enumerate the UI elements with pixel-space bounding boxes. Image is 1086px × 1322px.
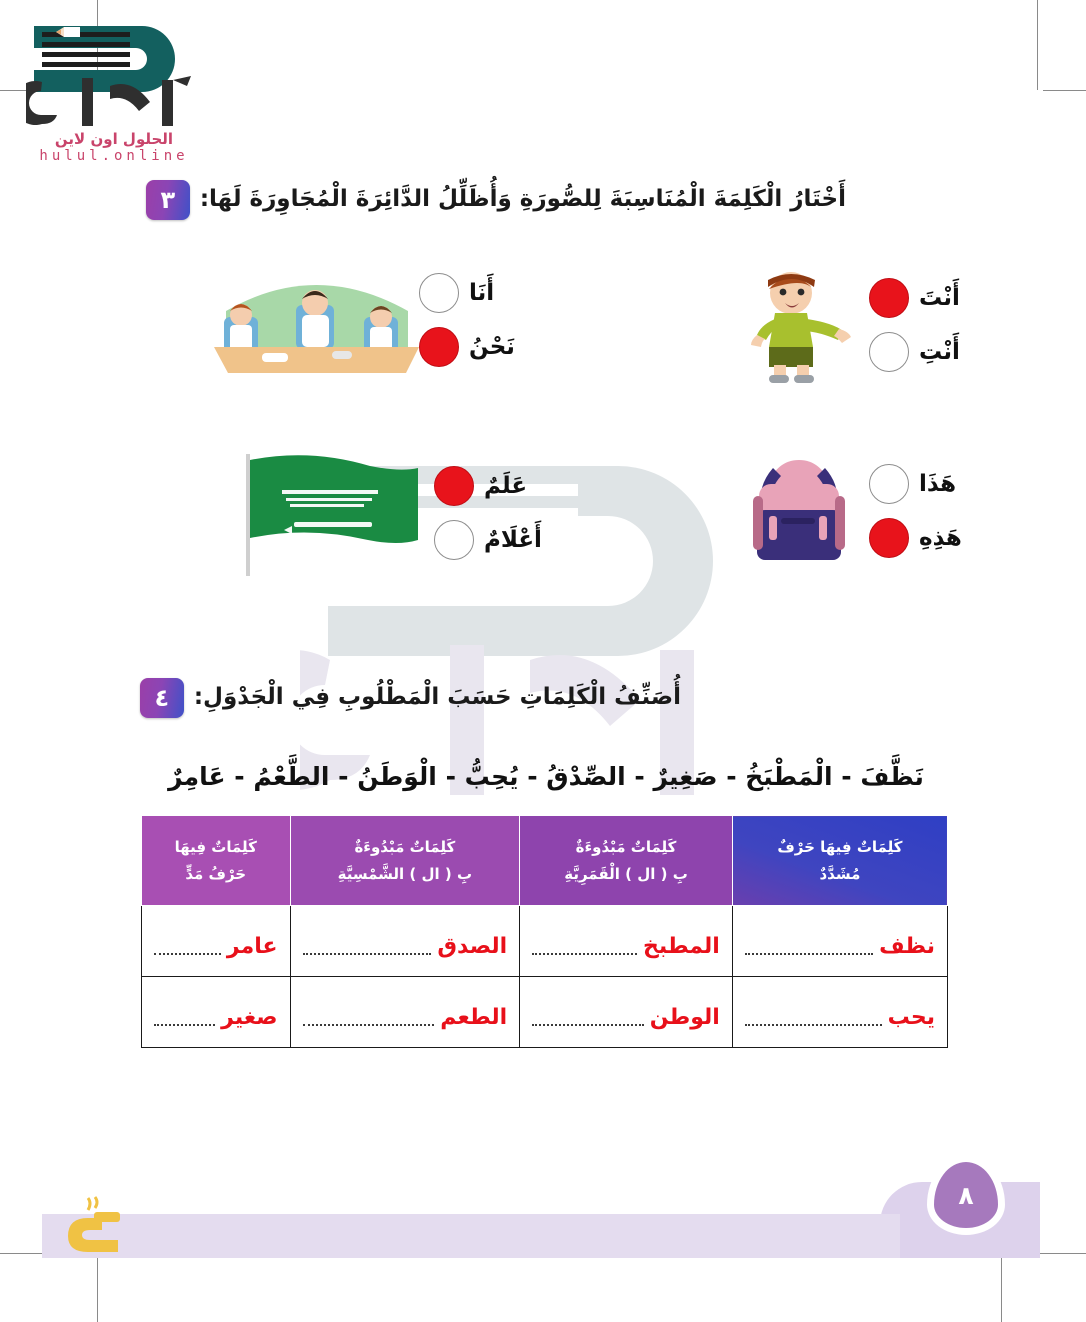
table-header-cell: كَلِمَاتٌ فِيهَا حَرْفٌ مُشَدَّدٌ	[732, 816, 947, 906]
option-label: هَذِهِ	[919, 525, 981, 551]
option-circle-empty[interactable]	[869, 332, 909, 372]
pencil-icon	[56, 24, 82, 40]
header-line-2: بِ ( ال ) الْقَمَرِيَّةِ	[526, 861, 726, 887]
header-line-1: كَلِمَاتٌ مَبْدُوءَةٌ	[297, 834, 514, 860]
answer-dotted-line	[532, 1022, 644, 1026]
answer-text: يحب	[888, 1007, 935, 1029]
option-row[interactable]: هَذَا	[869, 464, 981, 504]
option-row[interactable]: نَحْنُ	[419, 327, 531, 367]
worksheet-page: hulul.online الحلول اون لاين hulul.onlin…	[0, 0, 1086, 1322]
answer-text: الصدق	[437, 936, 507, 958]
word-bank: نَظَّفَ - الْمَطْبَخُ - صَغِيرٌ - الصِّد…	[151, 762, 941, 791]
header-line-2: مُشَدَّدٌ	[739, 861, 941, 887]
answer-dotted-line	[303, 1022, 435, 1026]
question-item-1: أَنَا نَحْنُ	[151, 265, 531, 375]
header-line-1: كَلِمَاتٌ فِيهَا	[148, 834, 284, 860]
exercise-4-heading: ٤ أُصَنِّفُ الْكَلِمَاتِ حَسَبَ الْمَطْل…	[140, 678, 681, 718]
option-row[interactable]: عَلَمٌ	[434, 466, 546, 506]
question-item-4-options: هَذَا هَذِهِ	[869, 464, 981, 558]
answer-dotted-line	[532, 951, 637, 955]
question-item-3-options: عَلَمٌ أَعْلَامٌ	[434, 466, 546, 560]
option-circle-filled[interactable]	[869, 518, 909, 558]
footer-bar	[42, 1214, 942, 1258]
saudi-flag-illustration	[234, 448, 434, 578]
crop-mark-top-right-vertical	[1037, 0, 1038, 90]
table-cell[interactable]: صغير	[142, 977, 291, 1048]
table-header-cell: كَلِمَاتٌ مَبْدُوءَةٌ بِ ( ال ) الْقَمَر…	[520, 816, 733, 906]
option-circle-filled[interactable]	[434, 466, 474, 506]
answer-text: صغير	[221, 1007, 277, 1029]
crop-mark-bottom-right-vertical	[1001, 1255, 1002, 1322]
answer-text: نظف	[879, 936, 935, 958]
page-number-text: ٨	[927, 1155, 1005, 1235]
table-cell[interactable]: عامر	[142, 906, 291, 977]
question-item-4: هَذَا هَذِهِ	[591, 448, 981, 573]
option-circle-empty[interactable]	[419, 273, 459, 313]
crop-mark-top-right-horizontal	[1043, 90, 1086, 91]
answer-text: الوطن	[650, 1007, 720, 1029]
school-backpack-illustration	[729, 448, 869, 573]
option-label: أَعْلَامٌ	[484, 527, 546, 553]
answer-text: المطبخ	[643, 936, 720, 958]
header-line-2: بِ ( ال ) الشَّمْسِيَّةِ	[297, 861, 514, 887]
table-cell[interactable]: المطبخ	[520, 906, 733, 977]
option-label: نَحْنُ	[469, 334, 531, 360]
table-cell[interactable]: الوطن	[520, 977, 733, 1048]
brand-url: hulul.online	[30, 148, 198, 166]
option-row[interactable]: أَنْتَ	[869, 278, 981, 318]
table-cell[interactable]: نظف	[732, 906, 947, 977]
option-row[interactable]: أَعْلَامٌ	[434, 520, 546, 560]
exercise-3-number-badge: ٣	[146, 180, 190, 220]
hulul-wordmark-icon	[26, 74, 206, 132]
question-item-2-options: أَنْتَ أَنْتِ	[869, 278, 981, 372]
option-label: هَذَا	[919, 471, 981, 497]
children-at-table-illustration	[214, 265, 419, 375]
header-line-2: حَرْفُ مَدٍّ	[148, 861, 284, 887]
option-label: أَنْتَ	[919, 285, 981, 311]
option-row[interactable]: أَنْتِ	[869, 332, 981, 372]
table-cell[interactable]: الطعم	[290, 977, 520, 1048]
answer-dotted-line	[303, 951, 432, 955]
answer-dotted-line	[154, 951, 221, 955]
header-line-1: كَلِمَاتٌ فِيهَا حَرْفٌ	[739, 834, 941, 860]
answer-dotted-line	[745, 951, 873, 955]
table-row: يحب الوطن الطعم صغير	[142, 977, 948, 1048]
boy-pointing-illustration	[719, 265, 869, 385]
hulul-logo: الحلول اون لاين hulul.online	[22, 14, 212, 164]
option-circle-empty[interactable]	[434, 520, 474, 560]
exercise-4-number-badge: ٤	[140, 678, 184, 718]
classification-table: كَلِمَاتٌ فِيهَا حَرْفٌ مُشَدَّدٌ كَلِمَ…	[141, 815, 948, 1048]
page-number-badge: ٨	[927, 1155, 1005, 1241]
option-circle-empty[interactable]	[869, 464, 909, 504]
table-cell[interactable]: الصدق	[290, 906, 520, 977]
header-line-1: كَلِمَاتٌ مَبْدُوءَةٌ	[526, 834, 726, 860]
exercise-3-heading: ٣ أَخْتَارُ الْكَلِمَةَ الْمُنَاسِبَةَ ل…	[146, 180, 846, 220]
brand-name-arabic: الحلول اون لاين	[30, 130, 198, 150]
option-label: أَنَا	[469, 280, 531, 306]
option-row[interactable]: هَذِهِ	[869, 518, 981, 558]
table-header-row: كَلِمَاتٌ فِيهَا حَرْفٌ مُشَدَّدٌ كَلِمَ…	[142, 816, 948, 906]
answer-dotted-line	[745, 1022, 882, 1026]
option-row[interactable]: أَنَا	[419, 273, 531, 313]
question-item-2: أَنْتَ أَنْتِ	[611, 265, 981, 385]
exercise-3-instruction: أَخْتَارُ الْكَلِمَةَ الْمُنَاسِبَةَ لِل…	[200, 184, 846, 215]
answer-text: عامر	[227, 936, 278, 958]
exercise-4-instruction: أُصَنِّفُ الْكَلِمَاتِ حَسَبَ الْمَطْلُو…	[194, 682, 681, 713]
ain-letter-logo-icon	[58, 1196, 132, 1268]
option-circle-filled[interactable]	[869, 278, 909, 318]
question-item-3: عَلَمٌ أَعْلَامٌ	[146, 448, 546, 578]
answer-dotted-line	[154, 1022, 215, 1026]
table-header-cell: كَلِمَاتٌ فِيهَا حَرْفُ مَدٍّ	[142, 816, 291, 906]
option-label: أَنْتِ	[919, 339, 981, 365]
answer-text: الطعم	[440, 1007, 507, 1029]
question-item-1-options: أَنَا نَحْنُ	[419, 273, 531, 367]
table-header-cell: كَلِمَاتٌ مَبْدُوءَةٌ بِ ( ال ) الشَّمْس…	[290, 816, 520, 906]
option-circle-filled[interactable]	[419, 327, 459, 367]
table-cell[interactable]: يحب	[732, 977, 947, 1048]
option-label: عَلَمٌ	[484, 473, 546, 499]
table-row: نظف المطبخ الصدق عامر	[142, 906, 948, 977]
